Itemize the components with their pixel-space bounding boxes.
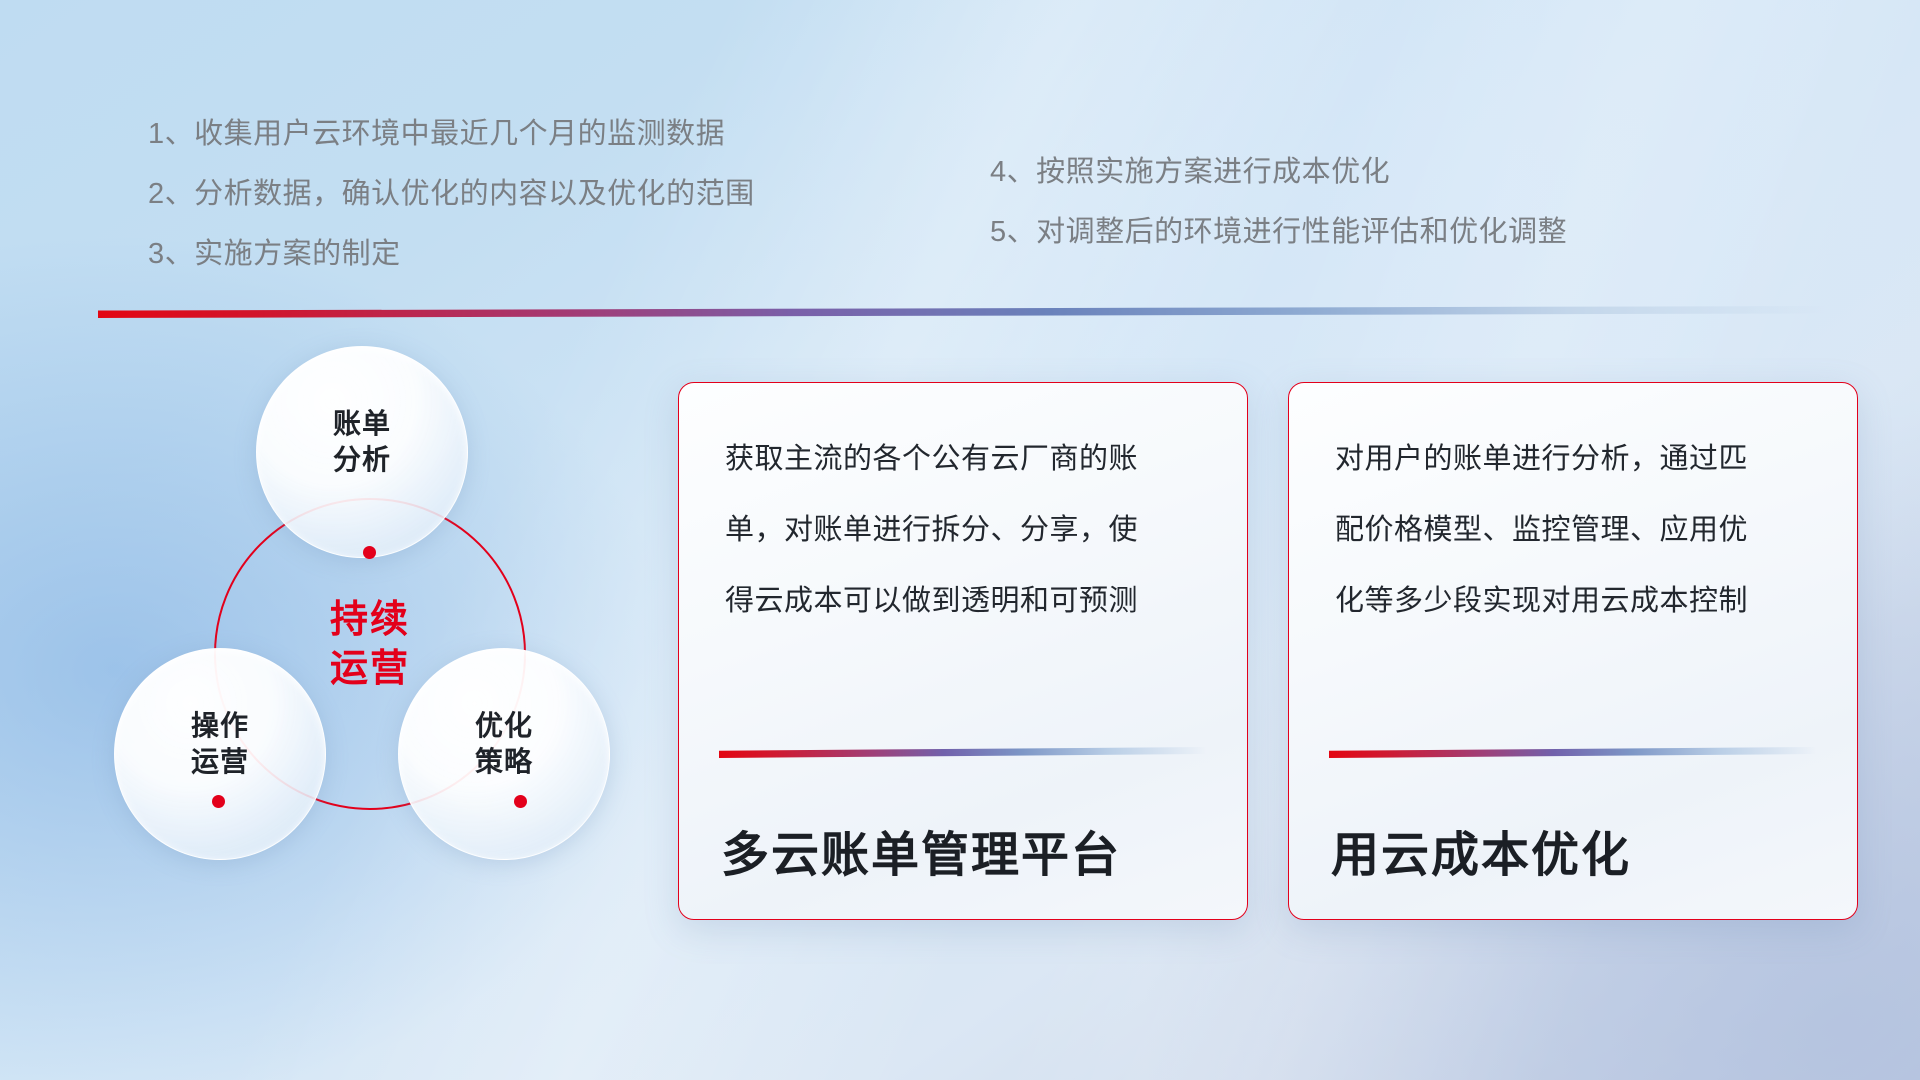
venn-connector-dot-right <box>514 795 527 808</box>
step-item: 2、分析数据，确认优化的内容以及优化的范围 <box>148 180 755 209</box>
card-body-line: 获取主流的各个公有云厂商的账 <box>725 445 1207 474</box>
feature-card-title: 多云账单管理平台 <box>721 815 1217 885</box>
card-body-line: 对用户的账单进行分析，通过匹 <box>1335 445 1817 474</box>
card-body-line: 单，对账单进行拆分、分享，使 <box>725 516 1207 545</box>
card-divider <box>1329 747 1817 758</box>
step-item: 1、收集用户云环境中最近几个月的监测数据 <box>148 120 755 149</box>
step-item: 3、实施方案的制定 <box>148 240 755 269</box>
venn-node-label-ops: 操作 运营 <box>114 708 326 781</box>
venn-connector-dot-top <box>363 546 376 559</box>
card-body-line: 得云成本可以做到透明和可预测 <box>725 587 1207 616</box>
venn-core-label: 持续 运营 <box>214 596 526 693</box>
card-divider <box>719 747 1207 758</box>
venn-node-label-bill: 账单 分析 <box>256 406 468 479</box>
venn-connector-dot-left <box>212 795 225 808</box>
card-body-line: 化等多少段实现对用云成本控制 <box>1335 587 1817 616</box>
steps-list-right: 4、按照实施方案进行成本优化 5、对调整后的环境进行性能评估和优化调整 <box>990 158 1567 278</box>
venn-diagram: 账单 分析 操作 运营 优化 策略 持续 运营 <box>96 346 636 946</box>
venn-node-label-strat: 优化 策略 <box>398 708 610 781</box>
feature-card-body: 对用户的账单进行分析，通过匹 配价格模型、监控管理、应用优 化等多少段实现对用云… <box>1335 445 1817 658</box>
card-body-line: 配价格模型、监控管理、应用优 <box>1335 516 1817 545</box>
step-item: 4、按照实施方案进行成本优化 <box>990 158 1567 187</box>
feature-card-multi-cloud-bill-platform[interactable]: 获取主流的各个公有云厂商的账 单，对账单进行拆分、分享，使 得云成本可以做到透明… <box>678 382 1248 920</box>
slide-canvas: 1、收集用户云环境中最近几个月的监测数据 2、分析数据，确认优化的内容以及优化的… <box>0 0 1920 1080</box>
section-divider <box>98 306 1828 318</box>
feature-card-body: 获取主流的各个公有云厂商的账 单，对账单进行拆分、分享，使 得云成本可以做到透明… <box>725 445 1207 658</box>
feature-card-cloud-cost-optimization[interactable]: 对用户的账单进行分析，通过匹 配价格模型、监控管理、应用优 化等多少段实现对用云… <box>1288 382 1858 920</box>
step-item: 5、对调整后的环境进行性能评估和优化调整 <box>990 218 1567 247</box>
steps-list-left: 1、收集用户云环境中最近几个月的监测数据 2、分析数据，确认优化的内容以及优化的… <box>148 120 755 300</box>
feature-card-title: 用云成本优化 <box>1331 815 1827 885</box>
